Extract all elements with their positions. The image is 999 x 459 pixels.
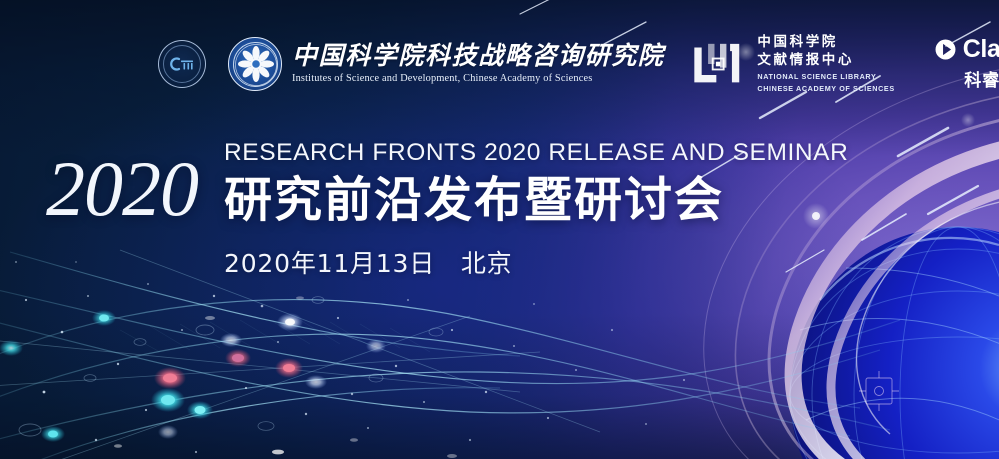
logo-clarivate: Clarivate™ 科睿唯安™ [935, 37, 999, 91]
cas-seal-inner-icon [169, 56, 195, 72]
nsl-english-line1: NATIONAL SCIENCE LIBRARY [757, 72, 894, 82]
nsl-bracket-icon [692, 42, 748, 86]
isd-emblem-icon [228, 37, 282, 91]
nsl-chinese-line1: 中国科学院 [757, 34, 894, 52]
event-title-chinese: 研究前沿发布暨研讨会 [224, 174, 884, 228]
event-date-location: 2020年11月13日 北京 [224, 244, 884, 280]
sponsor-logo-bar: 中国科学院科技战略咨询研究院 Institutes of Science and… [0, 28, 999, 100]
clarivate-chinese-text: 科睿唯安 [964, 71, 999, 91]
clarivate-wordmark-text: Clarivate [963, 35, 999, 63]
isd-english-name: Institutes of Science and Development, C… [292, 73, 664, 84]
cas-seal-icon [158, 40, 206, 88]
event-year: 2020 [46, 150, 198, 228]
logo-cas-seal [158, 40, 206, 88]
isd-chinese-name: 中国科学院科技战略咨询研究院 [292, 44, 664, 70]
clarivate-wordmark: Clarivate™ [963, 37, 999, 62]
isd-emblem-flower-icon [229, 38, 283, 92]
title-block: RESEARCH FRONTS 2020 RELEASE AND SEMINAR… [224, 140, 884, 280]
logo-isd-cas: 中国科学院科技战略咨询研究院 Institutes of Science and… [228, 37, 664, 91]
clarivate-mark-icon [935, 39, 956, 60]
clarivate-chinese-name: 科睿唯安™ [964, 66, 999, 91]
nsl-english-line2: CHINESE ACADEMY OF SCIENCES [757, 84, 894, 94]
nsl-chinese-line2: 文献情报中心 [757, 52, 894, 70]
event-banner: 中国科学院科技战略咨询研究院 Institutes of Science and… [0, 0, 999, 459]
event-title-english: RESEARCH FRONTS 2020 RELEASE AND SEMINAR [224, 140, 884, 167]
logo-national-science-library: 中国科学院 文献情报中心 NATIONAL SCIENCE LIBRARY CH… [692, 34, 894, 95]
